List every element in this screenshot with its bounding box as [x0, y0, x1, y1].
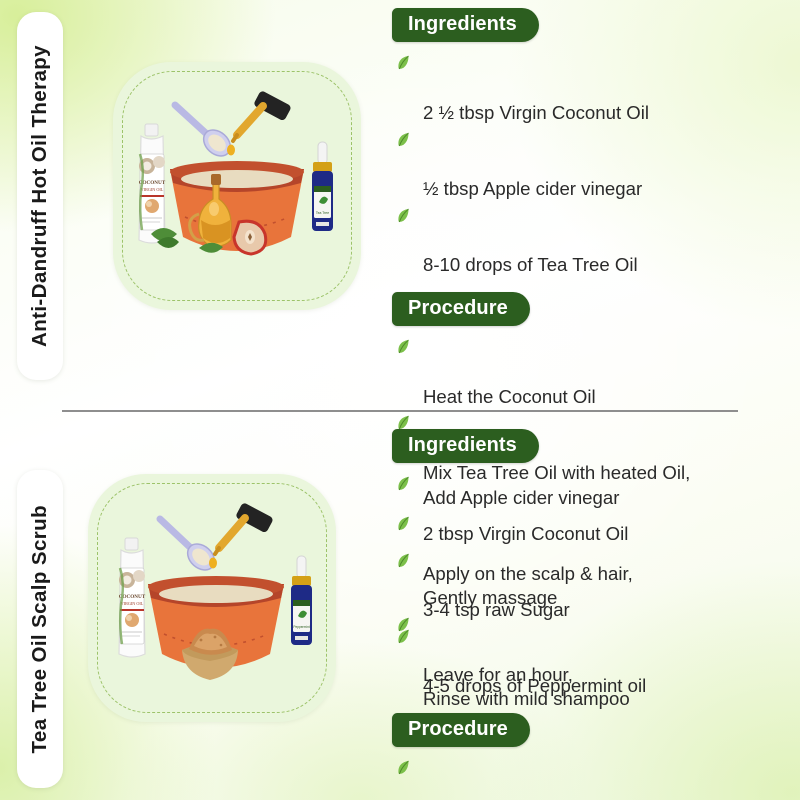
list-item: Mix the ingredients properly — [392, 756, 796, 800]
list-item-text: ½ tbsp Apple cider vinegar — [423, 178, 642, 199]
list-item: 3-4 tsp raw Sugar — [392, 549, 796, 623]
ingredients-badge: Ingredients — [392, 429, 539, 463]
section-title: Anti-Dandruff Hot Oil Therapy — [30, 45, 51, 347]
list-item-text: 2 tbsp Virgin Coconut Oil — [423, 523, 628, 544]
leaf-bullet-icon — [396, 132, 411, 148]
list-item-text: 3-4 tsp raw Sugar — [423, 599, 570, 620]
section-title: Tea Tree Oil Scalp Scrub — [30, 505, 51, 753]
recipe-section: Anti-Dandruff Hot Oil Therapy — [0, 0, 800, 410]
leaf-bullet-icon — [396, 339, 411, 355]
leaf-bullet-icon — [396, 55, 411, 71]
illustration-card: COCONUT VIRGIN OIL — [88, 474, 336, 722]
section-title-tab: Anti-Dandruff Hot Oil Therapy — [17, 12, 63, 380]
recipe-section: Tea Tree Oil Scalp Scrub — [0, 412, 800, 800]
procedure-badge: Procedure — [392, 292, 530, 326]
leaf-bullet-icon — [396, 760, 411, 776]
ingredients-badge: Ingredients — [392, 8, 539, 42]
ingredients-list: 2 tbsp Virgin Coconut Oil 3-4 tsp raw Su… — [392, 472, 796, 698]
list-item-text: 2 ½ tbsp Virgin Coconut Oil — [423, 102, 649, 123]
leaf-bullet-icon — [396, 208, 411, 224]
illustration-card: COCONUT VIRGIN OIL — [113, 62, 361, 310]
spacer — [392, 701, 796, 713]
list-item: 4-5 drops of Peppermint oil — [392, 625, 796, 699]
list-item: 2 tbsp Virgin Coconut Oil — [392, 472, 796, 546]
list-item-text: 4-5 drops of Peppermint oil — [423, 675, 646, 696]
section-title-tab: Tea Tree Oil Scalp Scrub — [17, 470, 63, 788]
list-item-text: 8-10 drops of Tea Tree Oil — [423, 254, 638, 275]
ingredients-list: 2 ½ tbsp Virgin Coconut Oil ½ tbsp Apple… — [392, 51, 796, 277]
dashed-border — [122, 71, 352, 301]
procedure-list: Mix the ingredients properly Apply the m… — [392, 756, 796, 800]
dashed-border — [97, 483, 327, 713]
leaf-bullet-icon — [396, 476, 411, 492]
list-item: 2 ½ tbsp Virgin Coconut Oil — [392, 51, 796, 125]
leaf-bullet-icon — [396, 629, 411, 645]
recipe-content: Ingredients 2 tbsp Virgin Coconut Oil 3-… — [392, 429, 796, 800]
list-item-text: Heat the Coconut Oil — [423, 386, 596, 407]
list-item: ½ tbsp Apple cider vinegar — [392, 128, 796, 202]
list-item: 8-10 drops of Tea Tree Oil — [392, 204, 796, 278]
leaf-bullet-icon — [396, 553, 411, 569]
spacer — [392, 280, 796, 292]
list-item: Heat the Coconut Oil — [392, 335, 796, 409]
procedure-badge: Procedure — [392, 713, 530, 747]
